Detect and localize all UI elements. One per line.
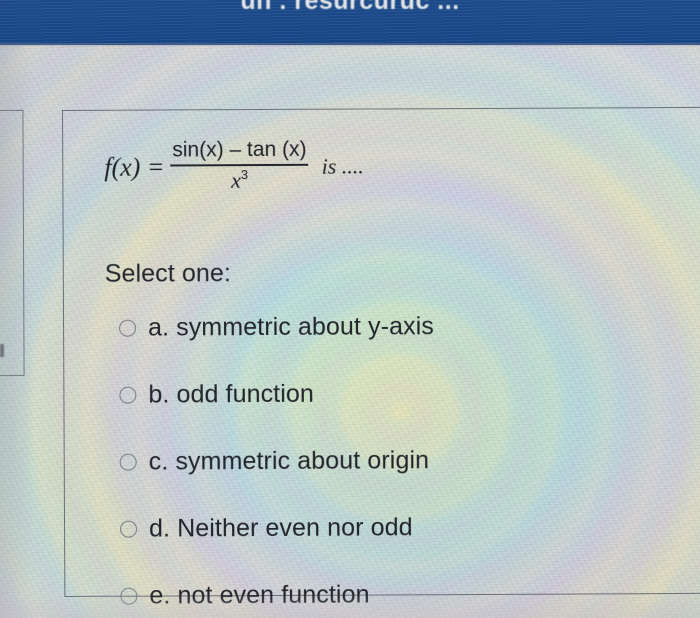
top-bar-edge-shadow	[0, 43, 700, 47]
select-one-prompt: Select one:	[105, 257, 683, 289]
top-blue-bar: un . resurcuruc ...	[0, 0, 700, 45]
radio-button-icon-c[interactable]	[120, 453, 137, 470]
denominator-exponent: 3	[241, 167, 248, 182]
option-e[interactable]: e. not even function	[120, 576, 684, 613]
radio-button-icon-a[interactable]	[119, 319, 136, 336]
formula-trailing-text: is ....	[322, 154, 364, 180]
option-e-label: e. not even function	[149, 580, 369, 610]
left-side-panel-partial	[0, 110, 25, 376]
option-b-label: b. odd function	[148, 379, 314, 409]
fraction-denominator: x3	[231, 166, 248, 193]
formula-line: f(x) = sin(x) – tan (x) x3 is ....	[104, 129, 682, 204]
clipped-page-title: un . resurcuruc ...	[0, 0, 700, 16]
option-d[interactable]: d. Neither even nor odd	[120, 509, 684, 546]
formula-lhs: f(x) =	[104, 153, 164, 183]
fraction-numerator: sin(x) – tan (x)	[170, 138, 308, 165]
left-edge-mark	[0, 344, 4, 357]
radio-button-icon-e[interactable]	[120, 587, 137, 604]
fraction: sin(x) – tan (x) x3	[170, 138, 308, 194]
options-list: a. symmetric about y-axis b. odd functio…	[105, 308, 684, 613]
option-c-label: c. symmetric about origin	[149, 446, 430, 476]
question-panel: f(x) = sin(x) – tan (x) x3 is .... Selec…	[62, 107, 684, 597]
option-b[interactable]: b. odd function	[119, 375, 683, 412]
radio-button-icon-b[interactable]	[119, 386, 136, 403]
option-a-label: a. symmetric about y-axis	[148, 312, 434, 342]
option-a[interactable]: a. symmetric about y-axis	[119, 308, 683, 345]
option-c[interactable]: c. symmetric about origin	[120, 442, 684, 479]
option-d-label: d. Neither even nor odd	[149, 513, 413, 543]
screen-photo: un . resurcuruc ... f(x) = sin(x) – tan …	[0, 0, 700, 618]
radio-button-icon-d[interactable]	[120, 520, 137, 537]
